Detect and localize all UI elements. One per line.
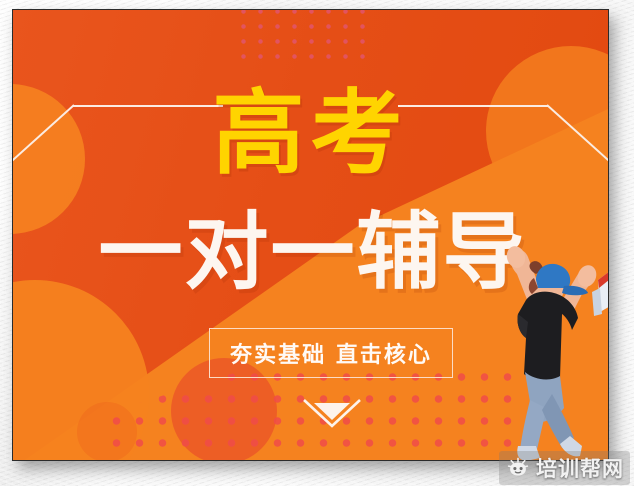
banner-frame: 高考 一对一辅导 夯实基础 直击核心 [12, 9, 609, 461]
dot-grid-top [235, 10, 371, 62]
leg-left [520, 400, 546, 454]
watermark-text: 培训帮网 [536, 453, 624, 483]
jumping-student-illustration [486, 238, 608, 460]
shirt [517, 292, 578, 382]
headline-primary: 高考 [13, 88, 608, 180]
decor-circle-accent-small [77, 402, 137, 460]
subtitle-box: 夯实基础 直击核心 [209, 328, 453, 378]
chevron-down-icon [301, 397, 363, 429]
page-root: 高考 一对一辅导 夯实基础 直击核心 [0, 0, 634, 486]
decor-circle-bottom-left [13, 280, 149, 460]
site-watermark: 培训帮网 [499, 451, 630, 485]
sun-face-icon [507, 457, 529, 479]
subtitle-text: 夯实基础 直击核心 [230, 337, 432, 369]
promotional-banner[interactable]: 高考 一对一辅导 夯实基础 直击核心 [13, 10, 608, 460]
